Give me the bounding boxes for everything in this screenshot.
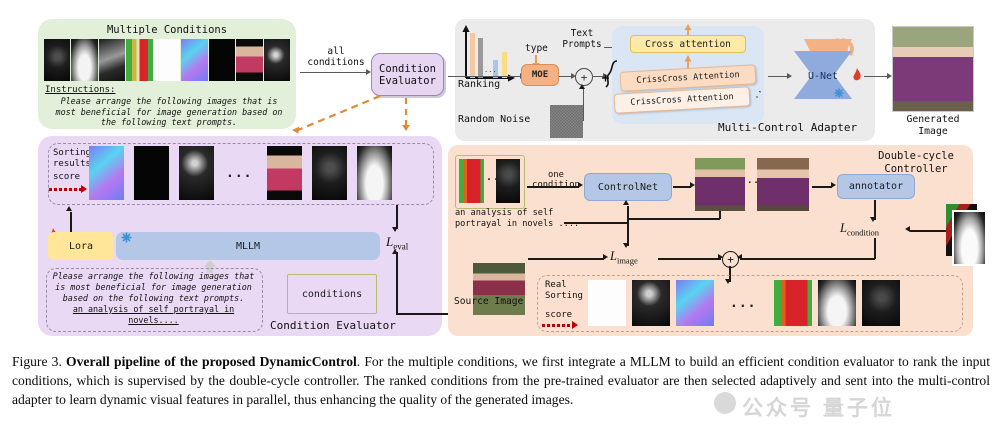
arrow-loss-condition-to-sum-head [737,254,742,260]
real-thumb-canny [632,280,670,326]
svg-text:U-Net: U-Net [808,71,838,82]
loss-image-subscript: image [617,256,638,266]
thumb-depth-map [71,39,97,81]
real-sorting-score-arrow [542,324,573,327]
snowflake-icon [834,88,844,98]
caption-bold: Overall pipeline of the proposed Dynamic… [66,354,357,369]
sorted-thumb-canny [179,146,214,200]
real-sorting-label: Real Sorting [545,280,583,301]
arrow-controlnet-to-gen [673,186,691,188]
one-condition-label: one condition [528,170,584,191]
thumb-segmentation-map [126,39,152,81]
loss-condition-label: Lcondition [840,221,879,238]
source-image-label: Source Image [454,296,523,307]
sorted-thumb-depth [357,146,392,200]
arrow-prompt-h [564,222,628,224]
sorting-score-label: score [53,172,80,182]
real-thumb-depth [818,280,856,326]
arrow-one-condition [527,186,579,188]
sorted-thumb-normal-map [89,146,124,200]
flame-icon [852,68,862,82]
sorted-thumbs-ellipsis: ... [226,166,252,181]
arrow-one-condition-head [578,182,583,188]
sorted-thumb-photo [267,146,302,200]
evaluator-prompt-underlined: an analysis of self portrayal in novels.… [55,304,252,326]
real-thumb-segmentation [774,280,812,326]
loss-condition-symbol: L [840,221,847,235]
thumb-normal-map [181,39,207,81]
arrow-mllm-to-sorting-head [66,206,72,211]
controller-generated-a [695,158,745,211]
evaluator-prompt-text: Please arrange the following images that… [50,271,257,304]
real-thumbs-ellipsis: ... [730,296,756,311]
watermark-icon [714,392,736,414]
arrow-source-to-loss-image-head [603,254,608,260]
arrow-into-loss-eval-bottom [396,252,398,314]
gt-condition-depth [952,210,987,266]
multiple-conditions-title: Multiple Conditions [38,24,296,36]
arrow-cross-attention-up [682,24,694,36]
arrow-block-to-unet [768,76,788,77]
text-prompts-label: Text Prompts [556,29,608,50]
multi-control-adapter-title: Multi-Control Adapter [718,122,857,135]
arrow-gen-down-head [623,243,629,248]
conditions-box[interactable]: conditions [287,274,377,314]
arrow-noise-to-sum-head [579,84,585,89]
lora-box[interactable]: Lora [48,232,114,260]
arrow-noise-to-sum-v [583,88,584,120]
sorted-thumb-hed [312,146,347,200]
thumb-color-portrait [236,39,262,81]
annotator-box[interactable]: annotator [837,174,915,199]
double-cycle-controller-title: Double-cycle Controller [862,150,970,175]
multiple-conditions-thumbs [44,39,290,81]
arrow-gt-to-loss-condition [910,230,946,232]
source-image [473,263,525,315]
selected-thumb-hed [496,159,520,203]
sorting-results-label: Sorting results [53,148,91,169]
controller-generated-b [757,158,809,211]
arrow-loss-image-to-sum [658,258,721,260]
loss-image-symbol: L [610,249,617,263]
arrow-evaluator-down-head [402,125,410,131]
arrow-unet-to-generated [864,76,888,77]
arrow-gt-to-loss-condition-head [905,226,910,232]
generated-image [893,27,973,111]
thumb-canny-edge [264,39,290,81]
thumb-openpose-skeleton [209,39,235,81]
arrow-into-loss-eval-top [396,205,398,229]
sorting-score-arrow [49,188,82,191]
arrow-prompt-head [623,200,629,205]
selected-thumb-segmentation [459,159,484,203]
all-conditions-label: all conditions [300,46,372,68]
arrow-into-loss-eval-bottom-head [392,249,398,254]
arrow-gen-down-v2 [627,218,629,246]
sorting-score-arrow-head [81,185,87,193]
real-thumb-hed [862,280,900,326]
real-sorting-score-label: score [545,310,572,320]
arrow-gen-to-annotator [812,186,832,188]
condition-evaluator-panel-title: Condition Evaluator [270,320,396,333]
random-noise-swatch [550,105,583,138]
arrow-gen-down-v1 [719,211,721,219]
arrow-ranking-to-moe [448,76,520,77]
random-noise-label: Random Noise [458,114,530,126]
moe-box[interactable]: MOE [521,64,559,86]
figure-root: Multiple Conditions Instructions: Please… [0,0,1000,445]
generated-image-label: Generated Image [893,114,973,137]
thumb-hed-edge [44,39,70,81]
real-thumb-normal [676,280,714,326]
caption-prefix: Figure 3. [12,354,62,369]
arrow-loss-condition-to-sum [740,258,875,260]
thumb-grayscale-portrait [99,39,125,81]
mllm-box[interactable]: MLLM [116,232,380,260]
ranking-label: Ranking [458,79,500,91]
controller-prompt-text: an analysis of self portrayal in novels … [455,208,585,230]
type-label: type [525,44,548,55]
arrow-gen-down-h [627,218,720,220]
cross-attention-box[interactable]: Cross attention [630,35,746,53]
thumb-scribble-sketch [154,39,180,81]
watermark-text: 公众号 量子位 [742,392,895,422]
ranking-chart: ... [460,24,518,82]
loss-condition-subscript: condition [847,228,879,238]
arrow-into-loss-eval-top-head [392,227,398,232]
instructions-text: Please arrange the following images that… [48,96,290,128]
arrow-unet-to-generated-head [887,73,892,79]
arrow-mllm-to-sorting [70,212,72,234]
condition-evaluator-box[interactable]: Condition Evaluator [371,53,444,96]
arrow-gen-to-annotator-head [831,182,836,188]
arrow-all-conditions [300,72,366,73]
arrow-source-to-loss-image [528,258,604,260]
real-sorting-score-arrow-head [572,321,578,329]
snowflake-icon-mllm [121,232,132,243]
arrow-loss-condition-v [874,238,876,259]
svg-text:...: ... [484,66,497,74]
instructions-label: Instructions: [45,85,115,95]
real-thumb-scribble [588,280,626,326]
loss-image-label: Limage [610,249,638,266]
controlnet-box[interactable]: ControlNet [584,173,672,201]
arrow-noise-link [583,120,584,121]
sorted-thumb-openpose [134,146,169,200]
